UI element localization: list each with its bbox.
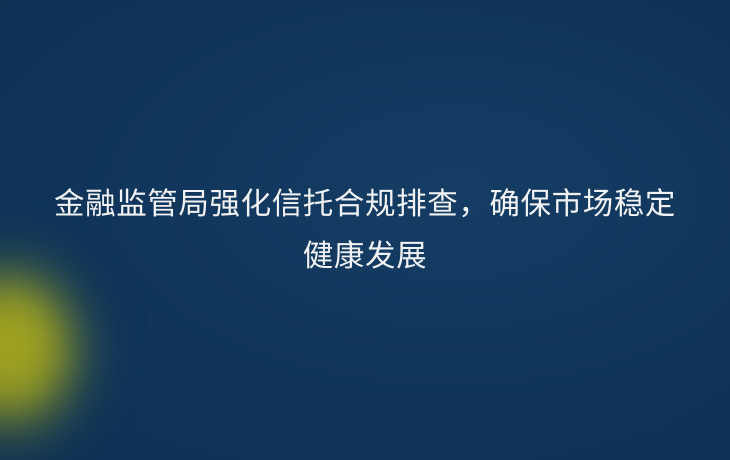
news-banner-poster: 金融监管局强化信托合规排查，确保市场稳定健康发展 [0, 0, 730, 460]
headline-container: 金融监管局强化信托合规排查，确保市场稳定健康发展 [0, 0, 730, 460]
headline-text: 金融监管局强化信托合规排查，确保市场稳定健康发展 [45, 178, 685, 282]
